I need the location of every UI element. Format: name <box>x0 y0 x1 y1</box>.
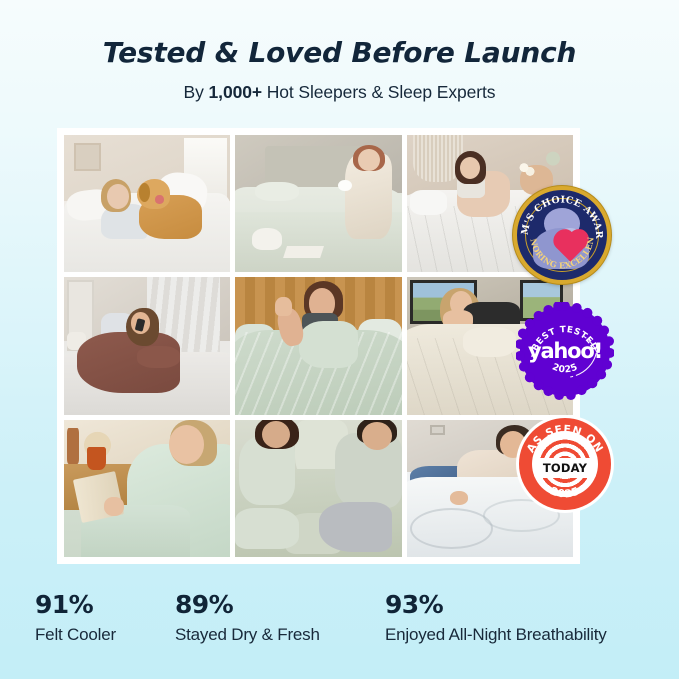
moms-choice-awards-badge: MOM'S CHOICE AWARDS HONORING EXCELLENCE <box>513 186 611 284</box>
stat-label: Felt Cooler <box>35 625 116 645</box>
stat-number: 91% <box>35 590 116 619</box>
photo-cell-4 <box>64 277 230 414</box>
yahoo-brand-label: yahoo! <box>516 339 614 363</box>
subtitle-count: 1,000+ <box>209 82 262 102</box>
photo-cell-1 <box>64 135 230 272</box>
svg-text:2025: 2025 <box>548 484 581 500</box>
today-brand-label: TODAY <box>534 458 597 478</box>
today-year-label: 2025 <box>548 484 581 500</box>
photo-cell-7 <box>64 420 230 557</box>
as-seen-on-today-badge: AS SEEN ON 2025 TODAY <box>516 415 614 513</box>
photo-cell-8 <box>235 420 401 557</box>
stat-number: 89% <box>175 590 320 619</box>
photo-grid <box>64 135 573 557</box>
photo-woman-on-phone <box>64 277 230 414</box>
header: Tested & Loved Before Launch By 1,000+ H… <box>0 0 679 103</box>
photo-woman-satin-pajamas <box>235 135 401 272</box>
svg-text:AS SEEN ON: AS SEEN ON <box>524 422 606 455</box>
subtitle-prefix: By <box>184 82 209 102</box>
subtitle-suffix: Hot Sleepers & Sleep Experts <box>262 82 495 102</box>
yahoo-best-tested-badge: BEST TESTED 2025 yahoo! <box>516 302 614 400</box>
photo-cell-2 <box>235 135 401 272</box>
stat-label: Stayed Dry & Fresh <box>175 625 320 645</box>
today-top-label: AS SEEN ON <box>524 422 606 455</box>
stat-felt-cooler: 91% Felt Cooler <box>35 590 116 645</box>
stats-row: 91% Felt Cooler 89% Stayed Dry & Fresh 9… <box>0 590 679 660</box>
photo-collage-card <box>57 128 580 564</box>
stat-breathability: 93% Enjoyed All-Night Breathability <box>385 590 607 645</box>
svg-text:MOM'S CHOICE AWARDS: MOM'S CHOICE AWARDS <box>517 190 604 239</box>
page-subtitle: By 1,000+ Hot Sleepers & Sleep Experts <box>0 82 679 103</box>
photo-cell-5 <box>235 277 401 414</box>
stat-number: 93% <box>385 590 607 619</box>
stat-stayed-dry: 89% Stayed Dry & Fresh <box>175 590 320 645</box>
photo-couple-in-bed <box>235 420 401 557</box>
mca-top-label: MOM'S CHOICE AWARDS <box>517 190 604 239</box>
mca-arc-text: MOM'S CHOICE AWARDS HONORING EXCELLENCE <box>517 190 607 280</box>
photo-woman-reading-book <box>64 420 230 557</box>
photo-woman-peace-sign <box>235 277 401 414</box>
photo-woman-with-dog <box>64 135 230 272</box>
stat-label: Enjoyed All-Night Breathability <box>385 625 607 645</box>
page-title: Tested & Loved Before Launch <box>0 38 679 69</box>
